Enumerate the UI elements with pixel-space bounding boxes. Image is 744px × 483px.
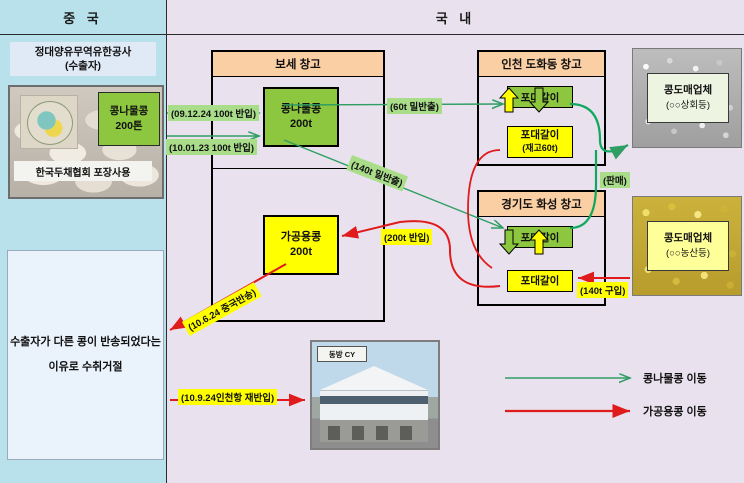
- cy-door-icon: [400, 426, 412, 440]
- legend-label-sprout-bean: 콩나물콩 이동: [643, 370, 707, 386]
- sacks-photo: 콩나물콩 200톤 한국두채협회 포장사용: [8, 85, 164, 199]
- bonded-warehouse-title: 보세 창고: [213, 52, 383, 77]
- seal-emblem-icon: [27, 101, 73, 145]
- packaging-note: 한국두채협회 포장사용: [14, 161, 152, 181]
- label-purchase-140t: (140t 구입): [577, 282, 628, 298]
- wholesaler-2-name: 콩도매업체: [664, 230, 712, 246]
- label-smuggle-60t: (60t 밀반출): [387, 98, 442, 114]
- wholesaler-1-name: 콩도매업체: [664, 82, 712, 98]
- cy-door-icon: [376, 426, 388, 440]
- hwaseong-repack-bottom-box: 포대갈이: [507, 270, 573, 292]
- cy-roof-shape: [320, 366, 428, 390]
- incheon-stock-amount: (재고60t): [522, 142, 558, 155]
- cy-band-shape: [320, 396, 428, 404]
- bonded-processing-bean-name: 가공용콩: [281, 230, 321, 245]
- sprout-bean-name: 콩나물콩: [110, 104, 149, 119]
- bonded-processing-bean-box: 가공용콩 200t: [263, 215, 339, 275]
- bonded-sprout-bean-name: 콩나물콩: [281, 102, 321, 117]
- exporter-box: 정대양유무역유한공사 (수출자): [10, 42, 156, 76]
- wholesaler-1-label: 콩도매업체 (○○상회등): [647, 73, 729, 123]
- incheon-warehouse-title: 인천 도화동 창고: [479, 52, 604, 77]
- exporter-name: 정대양유무역유한공사: [35, 45, 132, 59]
- header-domestic-label: 국 내: [436, 8, 476, 27]
- bonded-processing-bean-amount: 200t: [290, 245, 312, 260]
- association-seal-icon: [20, 95, 78, 149]
- sprout-bean-amount: 200톤: [115, 119, 142, 134]
- sprout-bean-tonnage-label: 콩나물콩 200톤: [98, 92, 160, 146]
- wholesaler-2-label: 콩도매업체 (○○농산등): [647, 221, 729, 271]
- header-china: 중 국: [0, 0, 167, 35]
- bonded-sprout-bean-amount: 200t: [290, 117, 312, 132]
- reject-notice-text: 수출자가 다른 콩이 반송되었다는 이유로 수취거절: [8, 330, 163, 380]
- incheon-repack-top-box: 포대갈이: [507, 86, 573, 108]
- header-domestic: 국 내: [167, 0, 744, 35]
- wholesaler-2-sub: (○○농산등): [666, 246, 710, 262]
- label-sale: (판매): [600, 172, 630, 188]
- diagram-canvas: 중 국 국 내 정대양유무역유한공사 (수출자) 콩나물콩 200톤 한국두채협…: [0, 0, 744, 483]
- cy-body-shape: [320, 390, 428, 421]
- cy-door-icon: [352, 426, 364, 440]
- header-china-label: 중 국: [63, 8, 103, 27]
- wholesaler-1-sub: (○○상회등): [666, 98, 710, 114]
- hwaseong-warehouse-title: 경기도 화성 창고: [479, 192, 604, 217]
- incheon-repack-bottom-box: 포대갈이 (재고60t): [507, 126, 573, 158]
- label-inbound-200t: (200t 반입): [381, 229, 432, 245]
- exporter-role: (수출자): [65, 59, 101, 73]
- label-import-2: (10.01.23 100t 반입): [166, 139, 257, 155]
- label-import-1: (09.12.24 100t 반입): [168, 105, 259, 121]
- bonded-warehouse: 보세 창고 콩나물콩 200t 가공용콩 200t: [211, 50, 385, 322]
- cy-terminal-photo: 동방 CY: [310, 340, 440, 450]
- legend-label-processing-bean: 가공용콩 이동: [643, 403, 707, 419]
- incheon-repack-bottom-label: 포대갈이: [521, 129, 560, 142]
- reject-notice-box: 수출자가 다른 콩이 반송되었다는 이유로 수취거절: [7, 250, 164, 460]
- bonded-sprout-bean-box: 콩나물콩 200t: [263, 87, 339, 147]
- wholesaler-yellow-beans-photo: 콩도매업체 (○○농산등): [632, 196, 742, 296]
- incheon-warehouse: 인천 도화동 창고 포대갈이 포대갈이 (재고60t): [477, 50, 606, 166]
- wholesaler-white-beans-photo: 콩도매업체 (○○상회등): [632, 48, 742, 148]
- label-reimport: (10.9.24인천항 재반입): [178, 389, 277, 405]
- cy-tag-label: 동방 CY: [317, 346, 367, 362]
- cy-door-icon: [328, 426, 340, 440]
- hwaseong-repack-top-box: 포대갈이: [507, 226, 573, 248]
